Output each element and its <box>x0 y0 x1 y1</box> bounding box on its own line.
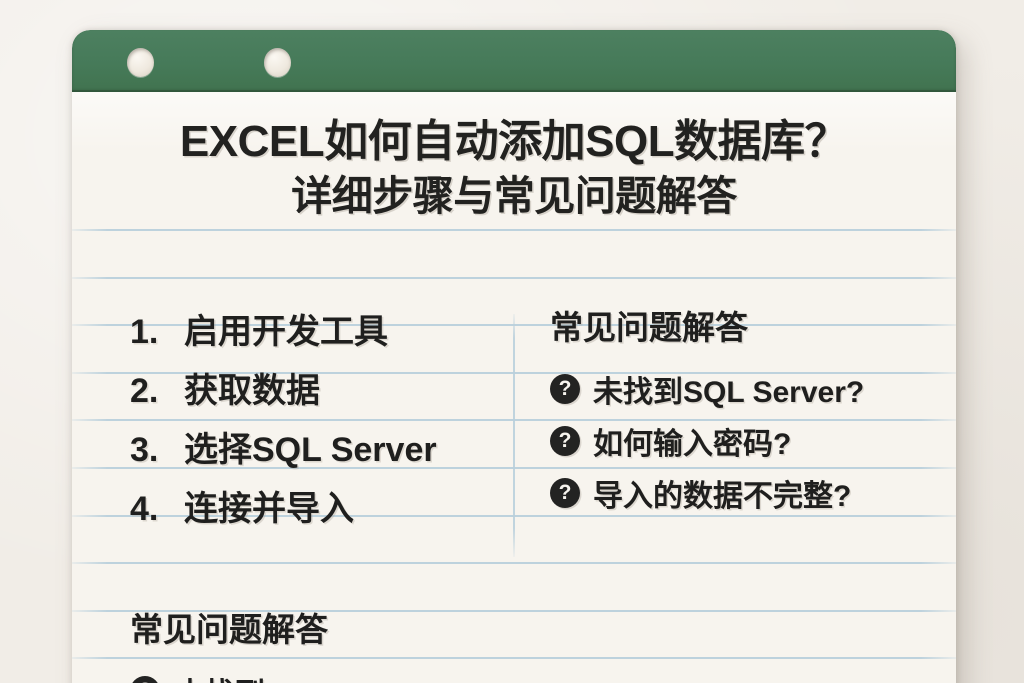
faq-label: 导入的数据不完整? <box>593 471 851 515</box>
title-line-1: EXCEL如何自动添加SQL数据库？ <box>72 114 956 170</box>
faq-heading: 常见问题解答 <box>130 603 560 651</box>
step-number: 1. <box>130 313 184 352</box>
faq-label: 未找到SQL Server? <box>593 367 864 411</box>
list-item: 4. 连接并导入 <box>130 481 510 540</box>
faq-label: 如何输入密码? <box>593 419 791 463</box>
list-item: 3. 选择SQL Server <box>130 422 510 481</box>
faq-section-right: 常见问题解答 ? 未找到SQL Server? ? 如何输入密码? ? 导入的数… <box>550 301 950 519</box>
step-number: 4. <box>130 490 184 529</box>
step-label: 获取数据 <box>184 363 320 412</box>
note-content: EXCEL如何自动添加SQL数据库？ 详细步骤与常见问题解答 1. 启用开发工具… <box>72 92 956 683</box>
faq-section-bottom: 常见问题解答 ? 未找到 SQL Server? ? <box>130 603 560 683</box>
binder-band <box>72 30 956 92</box>
list-item: 1. 启用开发工具 <box>130 304 510 363</box>
step-label: 选择SQL Server <box>184 422 437 471</box>
step-number: 2. <box>130 372 184 411</box>
question-mark-icon: ? <box>550 478 580 508</box>
list-item: ? 导入的数据不完整? <box>550 467 950 519</box>
step-number: 3. <box>130 431 184 470</box>
note-sheet: EXCEL如何自动添加SQL数据库？ 详细步骤与常见问题解答 1. 启用开发工具… <box>72 92 956 683</box>
list-item: 2. 获取数据 <box>130 363 510 422</box>
list-item: ? 未找到 SQL Server? <box>130 665 560 683</box>
question-mark-icon: ? <box>550 426 580 456</box>
steps-list: 1. 启用开发工具 2. 获取数据 3. 选择SQL Server 4. 连接并… <box>130 304 510 540</box>
list-item: ? 未找到SQL Server? <box>550 363 950 415</box>
faq-heading: 常见问题解答 <box>550 301 950 349</box>
faq-list: ? 未找到 SQL Server? ? <box>130 665 560 683</box>
faq-list: ? 未找到SQL Server? ? 如何输入密码? ? 导入的数据不完整? <box>550 363 950 519</box>
faq-label: 未找到 SQL Server? <box>175 669 455 683</box>
question-mark-icon: ? <box>550 374 580 404</box>
question-mark-icon: ? <box>130 676 160 683</box>
page-title: EXCEL如何自动添加SQL数据库？ 详细步骤与常见问题解答 <box>72 114 956 222</box>
list-item: ? 如何输入密码? <box>550 415 950 467</box>
step-label: 启用开发工具 <box>184 304 388 353</box>
step-label: 连接并导入 <box>184 481 354 530</box>
title-line-2: 详细步骤与常见问题解答 <box>72 170 956 222</box>
note-card: EXCEL如何自动添加SQL数据库？ 详细步骤与常见问题解答 1. 启用开发工具… <box>72 30 956 683</box>
punch-hole-icon <box>264 48 291 77</box>
punch-hole-icon <box>127 48 154 77</box>
